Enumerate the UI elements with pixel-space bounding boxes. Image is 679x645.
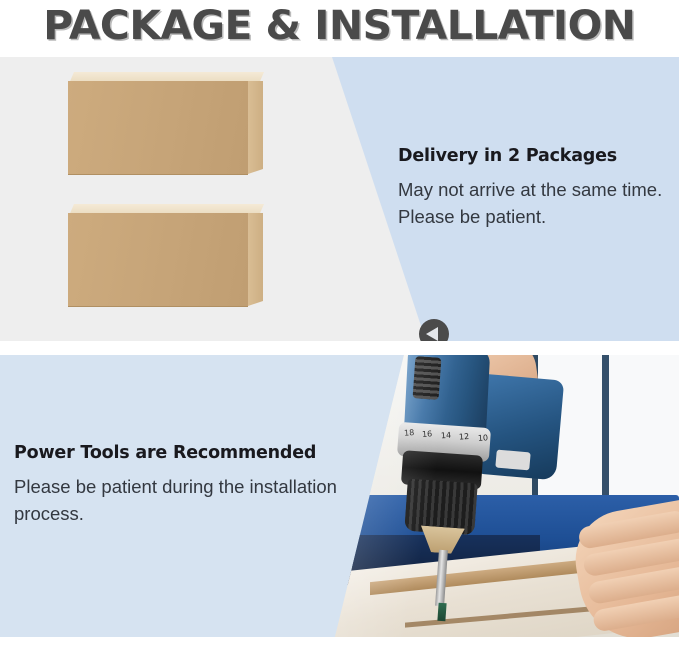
power-tools-heading: Power Tools are Recommended bbox=[14, 442, 364, 464]
panel-delivery: Delivery in 2 Packages May not arrive at… bbox=[0, 57, 679, 341]
carton-front-face bbox=[68, 81, 248, 175]
delivery-heading: Delivery in 2 Packages bbox=[398, 145, 676, 167]
carton-illustration-area bbox=[0, 57, 440, 341]
carton-side-face bbox=[248, 213, 263, 306]
arrow-left-glyph bbox=[426, 327, 438, 341]
power-tools-body: Please be patient during the installatio… bbox=[14, 473, 364, 527]
delivery-text-block: Delivery in 2 Packages May not arrive at… bbox=[398, 145, 676, 230]
panel-power-tools: Power Tools are Recommended Please be pa… bbox=[0, 355, 679, 637]
photo-light-overlay bbox=[310, 355, 679, 637]
arrow-left-icon bbox=[419, 319, 449, 341]
power-tools-text-block: Power Tools are Recommended Please be pa… bbox=[14, 442, 364, 527]
photo-inner: 18 16 14 12 10 bbox=[310, 355, 679, 637]
carton-front-face bbox=[68, 213, 248, 307]
page-title: PACKAGE & INSTALLATION bbox=[43, 4, 635, 48]
title-bar: PACKAGE & INSTALLATION bbox=[0, 0, 679, 52]
delivery-body: May not arrive at the same time. Please … bbox=[398, 176, 676, 230]
carton-side-face bbox=[248, 81, 263, 174]
cordless-drill-photo: 18 16 14 12 10 bbox=[310, 355, 679, 637]
